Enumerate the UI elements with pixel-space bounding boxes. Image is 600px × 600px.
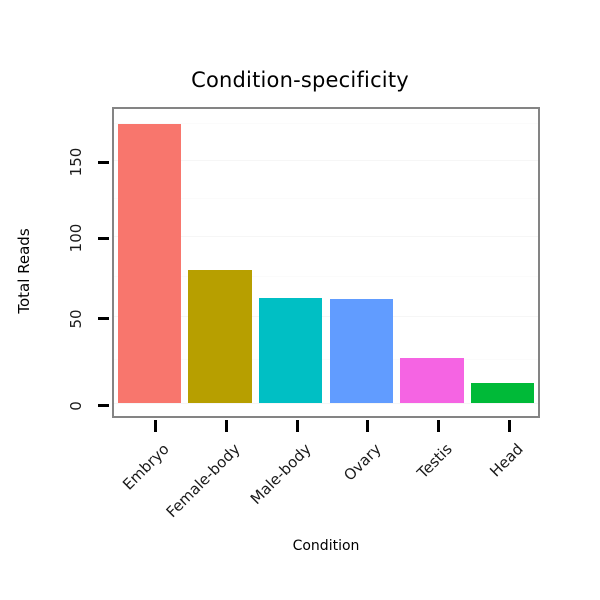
bar-embryo[interactable]: [118, 124, 181, 403]
x-tick-mark-testis: [437, 420, 440, 432]
bar-head[interactable]: [471, 383, 534, 403]
x-tick-mark-embryo: [154, 420, 157, 432]
bar-male-body[interactable]: [259, 298, 322, 403]
y-tick-mark-150: [98, 161, 109, 164]
bar-testis[interactable]: [400, 358, 463, 403]
y-axis-tick-labels: 0 50 100 150: [0, 0, 96, 600]
plot-area: [114, 109, 538, 416]
y-tick-label-0: 0: [67, 386, 85, 426]
y-tick-mark-0: [98, 404, 109, 407]
x-axis-title: Condition: [112, 538, 540, 554]
y-tick-mark-100: [98, 237, 109, 240]
x-tick-mark-female-body: [225, 420, 228, 432]
y-tick-label-100: 100: [67, 218, 85, 258]
x-tick-mark-ovary: [366, 420, 369, 432]
bar-female-body[interactable]: [188, 270, 251, 403]
y-tick-label-50: 50: [67, 299, 85, 339]
x-tick-mark-male-body: [296, 420, 299, 432]
bar-chart: Condition-specificity Total Reads 0 50 1…: [0, 0, 600, 600]
y-tick-mark-50: [98, 317, 109, 320]
bar-ovary[interactable]: [330, 299, 393, 403]
gridline-y-0: [114, 403, 538, 404]
plot-panel: [112, 107, 540, 418]
x-tick-mark-head: [508, 420, 511, 432]
y-tick-label-150: 150: [67, 142, 85, 182]
